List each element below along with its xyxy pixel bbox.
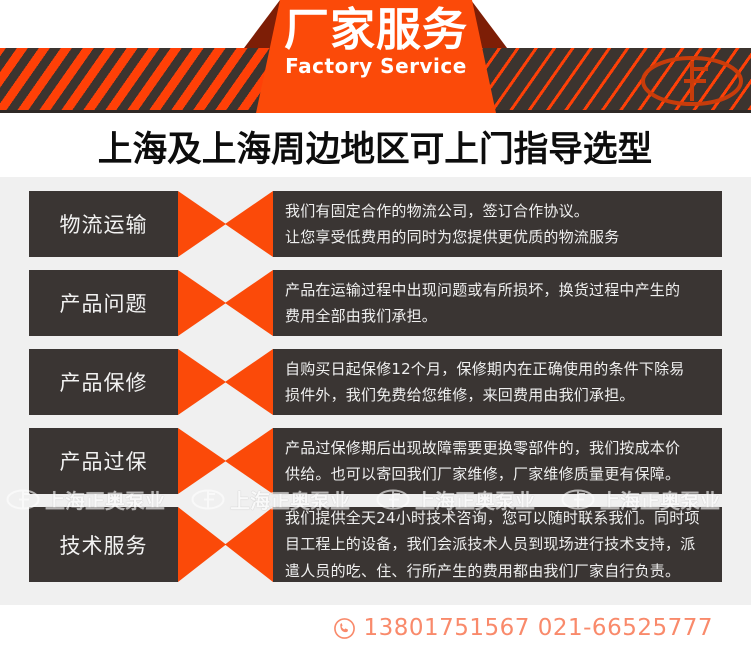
- page-header: 厂家服务 Factory Service: [0, 0, 751, 115]
- service-row-line: 我们提供全天24小时技术咨询，您可以随时联系我们。同时项: [285, 505, 708, 531]
- service-row-label: 产品问题: [29, 270, 178, 336]
- service-row-line: 让您享受低费用的同时为您提供更优质的物流服务: [285, 224, 708, 250]
- service-row-label: 产品保修: [29, 349, 178, 415]
- service-row-line: 供给。也可以寄回我们厂家维修，厂家维修质量更有保障。: [285, 461, 708, 487]
- service-row-line: 自购买日起保修12个月，保修期内在正确使用的条件下除易: [285, 356, 708, 382]
- service-row: 物流运输 我们有固定合作的物流公司，签订合作协议。 让您享受低费用的同时为您提供…: [29, 191, 722, 257]
- service-row-line: 产品过保修期后出现故障需要更换零部件的，我们按成本价: [285, 435, 708, 461]
- bowtie-right-triangle: [225, 270, 273, 336]
- service-row-body: 我们有固定合作的物流公司，签订合作协议。 让您享受低费用的同时为您提供更优质的物…: [273, 191, 722, 257]
- bowtie-right-triangle: [225, 428, 273, 494]
- bowtie-left-triangle: [178, 349, 226, 415]
- service-row-label-text: 产品保修: [60, 367, 148, 397]
- service-row: 技术服务 我们提供全天24小时技术咨询，您可以随时联系我们。同时项 目工程上的设…: [29, 507, 722, 582]
- bowtie-divider-icon: [178, 270, 273, 336]
- bowtie-divider-icon: [178, 349, 273, 415]
- service-row-label-text: 产品过保: [60, 446, 148, 476]
- service-row-line: 产品在运输过程中出现问题或有所损坏，换货过程中产生的: [285, 277, 708, 303]
- zhengao-ellipse-logo-icon: [640, 55, 745, 107]
- service-row: 产品保修 自购买日起保修12个月，保修期内在正确使用的条件下除易 损件外，我们免…: [29, 349, 722, 415]
- bowtie-divider-icon: [178, 507, 273, 582]
- bowtie-right-triangle: [225, 507, 273, 582]
- service-row-line: 损件外，我们免费给您维修，来回费用由我们承担。: [285, 382, 708, 408]
- phone-icon: [333, 617, 356, 640]
- bowtie-right-triangle: [225, 349, 273, 415]
- service-row-body: 产品在运输过程中出现问题或有所损坏，换货过程中产生的 费用全部由我们承担。: [273, 270, 722, 336]
- bowtie-left-triangle: [178, 507, 226, 582]
- banner-title-en: Factory Service: [256, 54, 496, 78]
- service-row-label: 技术服务: [29, 507, 178, 582]
- bowtie-left-triangle: [178, 191, 226, 257]
- service-row: 产品问题 产品在运输过程中出现问题或有所损坏，换货过程中产生的 费用全部由我们承…: [29, 270, 722, 336]
- bowtie-divider-icon: [178, 428, 273, 494]
- service-row-label: 物流运输: [29, 191, 178, 257]
- service-row-label-text: 技术服务: [60, 530, 148, 560]
- bowtie-right-triangle: [225, 191, 273, 257]
- service-row: 产品过保 产品过保修期后出现故障需要更换零部件的，我们按成本价 供给。也可以寄回…: [29, 428, 722, 494]
- bowtie-left-triangle: [178, 270, 226, 336]
- service-row-body: 自购买日起保修12个月，保修期内在正确使用的条件下除易 损件外，我们免费给您维修…: [273, 349, 722, 415]
- service-row-line: 我们有固定合作的物流公司，签订合作协议。: [285, 198, 708, 224]
- service-row-label: 产品过保: [29, 428, 178, 494]
- factory-service-banner: 厂家服务 Factory Service: [256, 0, 496, 113]
- service-row-line: 费用全部由我们承担。: [285, 303, 708, 329]
- service-row-line: 目工程上的设备，我们会派技术人员到现场进行技术支持，派: [285, 531, 708, 557]
- phone-numbers: 13801751567 021-66525777: [363, 615, 713, 641]
- page-title: 上海及上海周边地区可上门指导选型: [98, 121, 652, 172]
- contact-footer: 13801751567 021-66525777: [0, 605, 751, 651]
- service-row-label-text: 产品问题: [60, 288, 148, 318]
- service-row-label-text: 物流运输: [60, 209, 148, 239]
- service-row-body: 产品过保修期后出现故障需要更换零部件的，我们按成本价 供给。也可以寄回我们厂家维…: [273, 428, 722, 494]
- service-rows-panel: 物流运输 我们有固定合作的物流公司，签订合作协议。 让您享受低费用的同时为您提供…: [0, 177, 751, 605]
- bowtie-left-triangle: [178, 428, 226, 494]
- banner-title-cn: 厂家服务: [256, 4, 496, 56]
- bowtie-divider-icon: [178, 191, 273, 257]
- page-title-bar: 上海及上海周边地区可上门指导选型: [0, 115, 751, 177]
- service-row-line: 遣人员的吃、住、行所产生的费用都由我们厂家自行负责。: [285, 558, 708, 584]
- service-row-body: 我们提供全天24小时技术咨询，您可以随时联系我们。同时项 目工程上的设备，我们会…: [273, 507, 722, 582]
